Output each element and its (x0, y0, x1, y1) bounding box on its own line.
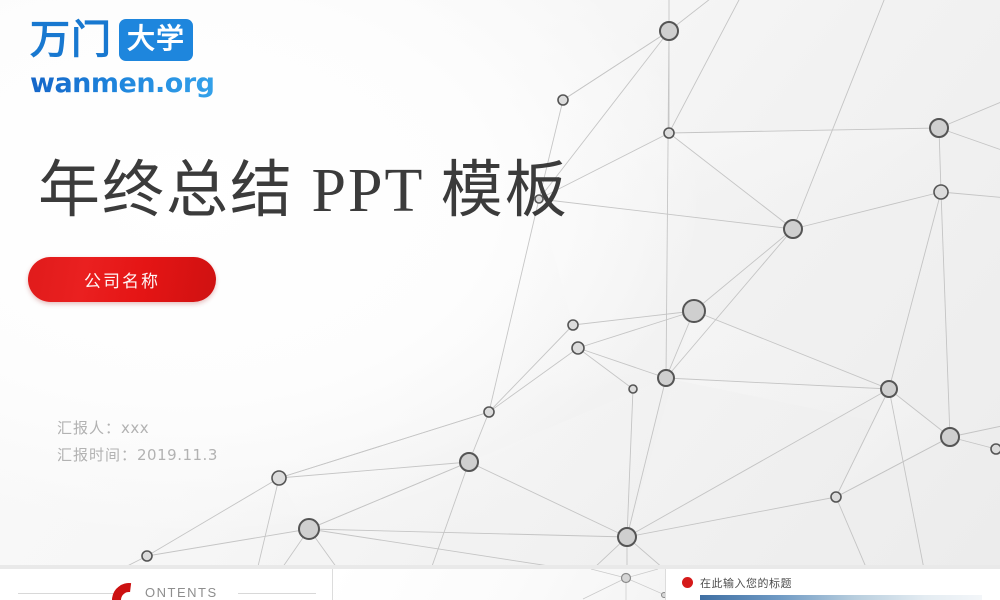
thumbnail-contents-slide[interactable]: ONTENTS (0, 569, 333, 600)
brand-logo: 万门 大学 wanmen.org (30, 16, 230, 106)
bullet-icon (682, 577, 693, 588)
reporter-line: 汇报人：xxx (57, 415, 218, 442)
report-date-label: 汇报时间： (57, 446, 137, 464)
presenter-meta: 汇报人：xxx 汇报时间：2019.11.3 (57, 415, 218, 469)
slide-thumbnail-strip[interactable]: ONTENTS 在此输入您的标题 (0, 569, 1000, 600)
presentation-viewer: 万门 大学 wanmen.org 年终总结 PPT 模板 公司名称 汇报人：xx… (0, 0, 1000, 600)
contents-rule-right (238, 593, 316, 594)
logo-university-badge: 大学 (119, 19, 193, 61)
contents-label: ONTENTS (145, 585, 218, 600)
reporter-value: xxx (121, 419, 149, 437)
logo-wordmark-cjk: 万门 (30, 20, 112, 60)
thumbnail-blue-bar (700, 595, 982, 600)
thumbnail-network-graphic (333, 569, 665, 600)
logo-url: wanmen.org (30, 68, 230, 99)
title-slide[interactable]: 万门 大学 wanmen.org 年终总结 PPT 模板 公司名称 汇报人：xx… (0, 0, 1000, 565)
thumbnail-network-slide[interactable] (333, 569, 666, 600)
thumbnail-chart-slide[interactable]: 在此输入您的标题 (666, 569, 999, 600)
reporter-label: 汇报人： (57, 419, 121, 437)
contents-rule-left (18, 593, 114, 594)
thumbnail-title-text: 在此输入您的标题 (700, 575, 792, 591)
company-name-button[interactable]: 公司名称 (28, 257, 216, 302)
page-title: 年终总结 PPT 模板 (38, 160, 569, 222)
report-date-line: 汇报时间：2019.11.3 (57, 442, 218, 469)
report-date-value: 2019.11.3 (137, 446, 218, 464)
company-name-label: 公司名称 (84, 267, 160, 292)
